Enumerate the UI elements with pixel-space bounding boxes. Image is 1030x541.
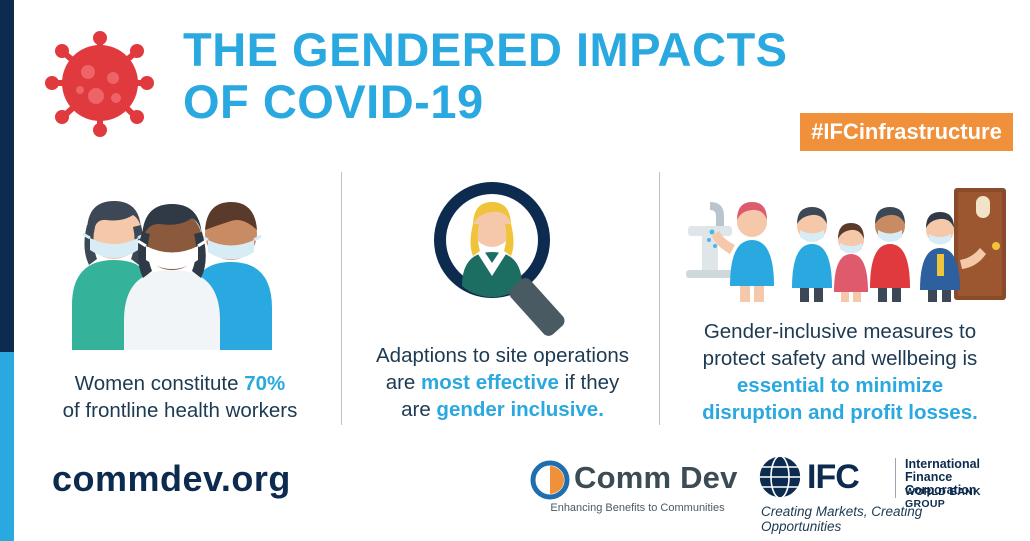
panel-2-caption-line3a: are (401, 398, 436, 421)
commdev-logo: Comm Dev Enhancing Benefits to Communiti… (530, 458, 745, 520)
hashtag-badge: #IFCinfrastructure (800, 113, 1013, 151)
panel-site-operations: Adaptions to site operations are most ef… (350, 180, 655, 430)
title-line-1: THE GENDERED IMPACTS (183, 23, 788, 76)
three-people-with-masks-icon (42, 180, 302, 350)
panel-3-highlight-2: disruption and profit losses. (702, 401, 978, 424)
panel-divider-1 (341, 172, 342, 425)
panel-3-caption-line2: protect safety and wellbeing is (703, 347, 978, 370)
left-edge-navy-bar (0, 0, 14, 352)
title-line-2: OF COVID-19 (183, 76, 883, 128)
panel-3-caption-line1: Gender-inclusive measures to (704, 320, 976, 343)
panel-gender-inclusive-measures: Gender-inclusive measures to protect saf… (666, 180, 1014, 430)
ifc-logo: IFC International Finance Corporation WO… (755, 452, 1000, 522)
ifc-name-line1: International (905, 457, 980, 471)
infographic-canvas: THE GENDERED IMPACTS OF COVID-19 #IFCinf… (0, 0, 1030, 541)
panel-1-caption: Women constitute 70% of frontline health… (20, 370, 340, 424)
ifc-wordmark: IFC (807, 458, 859, 497)
ifc-tagline: Creating Markets, Creating Opportunities (761, 504, 1000, 534)
ifc-logo-divider (895, 458, 896, 498)
panel-2-highlight-1: most effective (421, 371, 559, 394)
panel-2-highlight-2: gender inclusive. (436, 398, 603, 421)
panel-2-caption-line1: Adaptions to site operations (376, 344, 629, 367)
coronavirus-icon (40, 28, 160, 138)
handwashing-distancing-screening-icon (682, 182, 1012, 302)
panel-1-highlight: 70% (244, 372, 285, 395)
panel-2-caption-line2c: if they (559, 371, 619, 394)
panel-divider-2 (659, 172, 660, 425)
page-title: THE GENDERED IMPACTS OF COVID-19 (183, 24, 883, 128)
left-edge-blue-bar (0, 352, 14, 541)
panel-frontline-health-workers: Women constitute 70% of frontline health… (20, 180, 340, 430)
panel-3-highlight-1: essential to minimize (737, 374, 943, 397)
panel-2-caption: Adaptions to site operations are most ef… (350, 342, 655, 423)
panel-3-caption: Gender-inclusive measures to protect saf… (666, 318, 1014, 426)
panel-1-caption-line1a: Women constitute (75, 372, 244, 395)
magnifying-glass-worker-icon (402, 180, 612, 325)
website-url[interactable]: commdev.org (52, 458, 291, 500)
panel-2-caption-line2a: are (386, 371, 421, 394)
commdev-wordmark: Comm Dev (574, 460, 738, 496)
panel-1-caption-line2: of frontline health workers (63, 399, 298, 422)
commdev-tagline: Enhancing Benefits to Communities (530, 502, 745, 514)
